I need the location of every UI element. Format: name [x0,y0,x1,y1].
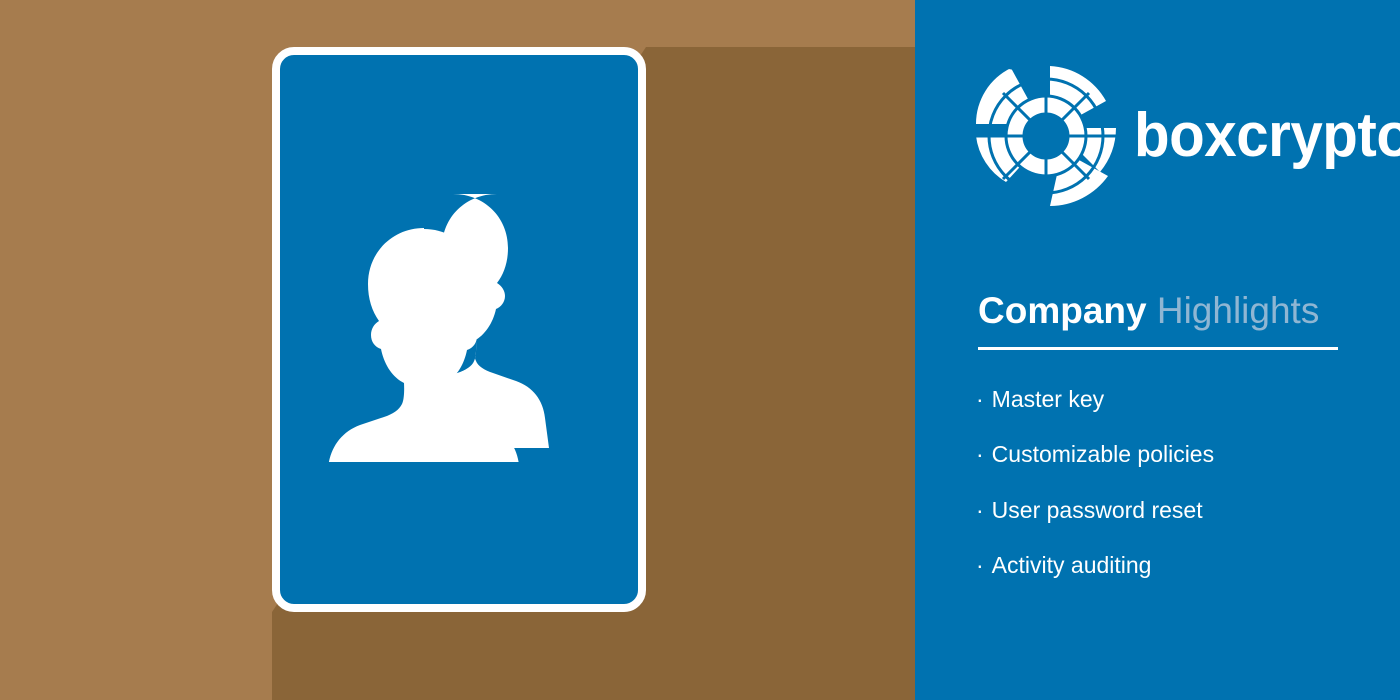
panel-heading: Company Highlights [978,291,1319,332]
list-item: · Activity auditing [976,552,1214,578]
bullet-dot-icon: · [976,497,984,523]
list-item-label: User password reset [992,497,1203,523]
bullet-dot-icon: · [976,552,984,578]
marketing-banner: boxcryptor Company Highlights · Master k… [0,0,1400,700]
brand-logo: boxcryptor [972,62,1400,210]
boxcryptor-logo-icon [972,62,1120,210]
list-item: · Master key [976,386,1214,412]
heading-strong: Company [978,290,1147,331]
feature-icon-card [272,47,646,612]
list-item-label: Activity auditing [992,552,1152,578]
users-group-icon [314,192,604,462]
heading-muted: Highlights [1157,290,1319,331]
heading-divider [978,347,1338,350]
list-item: · User password reset [976,497,1214,523]
highlights-list: · Master key · Customizable policies · U… [976,386,1214,579]
list-item: · Customizable policies [976,441,1214,467]
list-item-label: Customizable policies [992,441,1214,467]
list-item-label: Master key [992,386,1104,412]
brand-wordmark: boxcryptor [1134,105,1400,167]
bullet-dot-icon: · [976,441,984,467]
bullet-dot-icon: · [976,386,984,412]
